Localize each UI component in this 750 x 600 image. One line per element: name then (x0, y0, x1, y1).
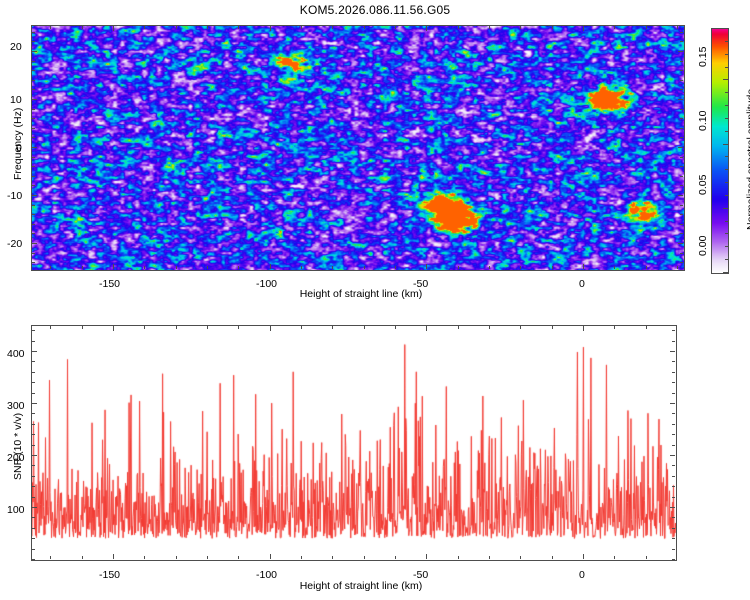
tick-mark (32, 351, 37, 352)
spectrogram-xtick-neg150: -150 (99, 278, 120, 290)
tick-mark (458, 266, 459, 269)
tick-mark (680, 128, 683, 129)
tick-mark (364, 266, 365, 269)
tick-mark (678, 243, 683, 244)
tick-mark (583, 554, 584, 559)
tick-mark (520, 266, 521, 269)
tick-mark (113, 264, 114, 269)
tick-mark (50, 26, 51, 29)
tick-mark (552, 26, 553, 29)
tick-mark (458, 26, 459, 29)
tick-mark (144, 266, 145, 269)
tick-mark (238, 266, 239, 269)
tick-mark (32, 70, 35, 71)
tick-mark (680, 32, 683, 33)
tick-mark (32, 51, 37, 52)
tick-mark (113, 26, 114, 31)
tick-mark (207, 556, 208, 559)
tick-mark (672, 476, 675, 477)
tick-mark (489, 556, 490, 559)
tick-mark (332, 266, 333, 269)
tick-mark (32, 549, 35, 550)
tick-mark (520, 556, 521, 559)
tick-mark (238, 556, 239, 559)
colorbar-tick-010: 0.10 (697, 111, 709, 131)
tick-mark (144, 326, 145, 329)
tick-mark (680, 41, 683, 42)
tick-mark (680, 262, 683, 263)
tick-mark (489, 266, 490, 269)
tick-mark (723, 208, 728, 209)
tick-mark (32, 137, 35, 138)
tick-mark (207, 266, 208, 269)
tick-mark (82, 556, 83, 559)
snr-canvas (32, 326, 676, 560)
tick-mark (332, 556, 333, 559)
tick-mark (32, 486, 35, 487)
tick-mark (489, 26, 490, 29)
snr-ytick-200: 200 (7, 452, 25, 464)
tick-mark (270, 264, 271, 269)
tick-mark (32, 507, 37, 508)
tick-mark (176, 266, 177, 269)
tick-mark (725, 246, 728, 247)
tick-mark (364, 326, 365, 329)
colorbar-tick-015: 0.15 (697, 47, 709, 67)
tick-mark (680, 89, 683, 90)
tick-mark (32, 205, 35, 206)
tick-mark (32, 128, 35, 129)
tick-mark (552, 556, 553, 559)
tick-mark (680, 253, 683, 254)
tick-mark (725, 118, 728, 119)
tick-mark (395, 556, 396, 559)
tick-mark (672, 486, 675, 487)
tick-mark (32, 424, 35, 425)
tick-mark (680, 109, 683, 110)
tick-mark (672, 424, 675, 425)
tick-mark (270, 554, 271, 559)
tick-mark (32, 253, 35, 254)
tick-mark (426, 26, 427, 31)
tick-mark (725, 92, 728, 93)
tick-mark (672, 445, 675, 446)
tick-mark (725, 221, 728, 222)
tick-mark (32, 341, 35, 342)
tick-mark (364, 556, 365, 559)
tick-mark (672, 538, 675, 539)
spectrogram-ytick-20: 20 (10, 41, 22, 53)
tick-mark (725, 233, 728, 234)
tick-mark (670, 403, 675, 404)
figure-root: KOM5.2026.086.11.56.G05 Frequency (Hz) 2… (0, 0, 750, 600)
tick-mark (32, 195, 37, 196)
tick-mark (301, 266, 302, 269)
tick-mark (614, 26, 615, 29)
tick-mark (552, 326, 553, 329)
tick-mark (672, 341, 675, 342)
tick-mark (677, 266, 678, 269)
tick-mark (725, 131, 728, 132)
spectrogram-ytick-neg20: -20 (7, 238, 22, 250)
snr-ytick-400: 400 (7, 348, 25, 360)
tick-mark (364, 26, 365, 29)
tick-mark (32, 32, 35, 33)
tick-mark (426, 326, 427, 331)
tick-mark (677, 26, 678, 29)
tick-mark (725, 54, 728, 55)
tick-mark (32, 224, 35, 225)
tick-mark (32, 434, 35, 435)
tick-mark (32, 89, 35, 90)
tick-mark (614, 326, 615, 329)
tick-mark (32, 147, 37, 148)
tick-mark (32, 41, 35, 42)
tick-mark (50, 326, 51, 329)
tick-mark (32, 413, 35, 414)
tick-mark (646, 26, 647, 29)
tick-mark (82, 266, 83, 269)
tick-mark (672, 549, 675, 550)
spectrogram-ytick-neg10: -10 (7, 190, 22, 202)
tick-mark (614, 556, 615, 559)
tick-mark (426, 554, 427, 559)
snr-ytick-100: 100 (7, 504, 25, 516)
tick-mark (113, 554, 114, 559)
spectrogram-ytick-0: 0 (16, 142, 22, 154)
tick-mark (32, 61, 35, 62)
tick-mark (680, 137, 683, 138)
snr-x-axis-label: Height of straight line (km) (231, 580, 491, 592)
tick-mark (32, 118, 35, 119)
tick-mark (672, 330, 675, 331)
tick-mark (32, 233, 35, 234)
tick-mark (32, 465, 35, 466)
tick-mark (678, 99, 683, 100)
tick-mark (723, 79, 728, 80)
tick-mark (301, 26, 302, 29)
snr-xtick-0: 0 (579, 569, 585, 581)
spectrogram-canvas (32, 26, 684, 270)
tick-mark (725, 41, 728, 42)
tick-mark (670, 507, 675, 508)
tick-mark (32, 393, 35, 394)
tick-mark (725, 67, 728, 68)
tick-mark (672, 372, 675, 373)
tick-mark (176, 326, 177, 329)
tick-mark (678, 51, 683, 52)
tick-mark (725, 28, 728, 29)
colorbar-tick-000: 0.00 (697, 236, 709, 256)
snr-ytick-300: 300 (7, 400, 25, 412)
tick-mark (395, 326, 396, 329)
tick-mark (646, 326, 647, 329)
tick-mark (680, 233, 683, 234)
tick-mark (680, 157, 683, 158)
tick-mark (32, 497, 35, 498)
tick-mark (426, 264, 427, 269)
tick-mark (670, 455, 675, 456)
tick-mark (680, 80, 683, 81)
tick-mark (552, 266, 553, 269)
spectrogram-plot-area (31, 25, 685, 271)
tick-mark (144, 26, 145, 29)
tick-mark (32, 157, 35, 158)
colorbar-tick-005: 0.05 (697, 175, 709, 195)
tick-mark (238, 326, 239, 329)
tick-mark (672, 361, 675, 362)
tick-mark (113, 326, 114, 331)
spectrogram-ytick-10: 10 (10, 94, 22, 106)
tick-mark (82, 326, 83, 329)
tick-mark (489, 326, 490, 329)
tick-mark (678, 147, 683, 148)
tick-mark (50, 266, 51, 269)
tick-mark (614, 266, 615, 269)
colorbar-label: Normalized spectral amplitude (745, 89, 750, 230)
tick-mark (32, 403, 37, 404)
tick-mark (672, 517, 675, 518)
tick-mark (680, 205, 683, 206)
tick-mark (458, 556, 459, 559)
tick-mark (32, 185, 35, 186)
tick-mark (672, 434, 675, 435)
tick-mark (725, 182, 728, 183)
tick-mark (270, 26, 271, 31)
colorbar (711, 28, 729, 274)
tick-mark (32, 559, 35, 560)
tick-mark (32, 109, 35, 110)
tick-mark (32, 455, 37, 456)
colorbar-gradient (712, 29, 728, 273)
tick-mark (32, 99, 37, 100)
tick-mark (301, 556, 302, 559)
figure-title: KOM5.2026.086.11.56.G05 (0, 3, 750, 17)
spectrogram-x-axis-label: Height of straight line (km) (231, 288, 491, 300)
tick-mark (458, 326, 459, 329)
tick-mark (672, 413, 675, 414)
tick-mark (583, 26, 584, 31)
tick-mark (32, 517, 35, 518)
tick-mark (680, 224, 683, 225)
tick-mark (207, 26, 208, 29)
tick-mark (32, 538, 35, 539)
tick-mark (672, 382, 675, 383)
tick-mark (32, 382, 35, 383)
tick-mark (672, 465, 675, 466)
tick-mark (678, 195, 683, 196)
tick-mark (583, 326, 584, 331)
tick-mark (176, 26, 177, 29)
snr-xtick-neg150: -150 (99, 569, 120, 581)
tick-mark (672, 559, 675, 560)
tick-mark (32, 372, 35, 373)
tick-mark (680, 166, 683, 167)
tick-mark (32, 166, 35, 167)
tick-mark (680, 214, 683, 215)
tick-mark (32, 361, 35, 362)
tick-mark (32, 176, 35, 177)
tick-mark (32, 262, 35, 263)
tick-mark (725, 259, 728, 260)
tick-mark (672, 497, 675, 498)
tick-mark (144, 556, 145, 559)
tick-mark (238, 26, 239, 29)
tick-mark (646, 556, 647, 559)
tick-mark (725, 156, 728, 157)
tick-mark (680, 61, 683, 62)
tick-mark (680, 118, 683, 119)
tick-mark (332, 326, 333, 329)
spectrogram-xtick-0: 0 (579, 278, 585, 290)
tick-mark (520, 26, 521, 29)
tick-mark (520, 326, 521, 329)
tick-mark (680, 176, 683, 177)
tick-mark (32, 445, 35, 446)
tick-mark (32, 330, 35, 331)
tick-mark (395, 266, 396, 269)
tick-mark (723, 272, 728, 273)
tick-mark (32, 528, 35, 529)
tick-mark (646, 266, 647, 269)
tick-mark (301, 326, 302, 329)
tick-mark (583, 264, 584, 269)
tick-mark (176, 556, 177, 559)
tick-mark (332, 26, 333, 29)
tick-mark (725, 195, 728, 196)
tick-mark (32, 80, 35, 81)
tick-mark (82, 26, 83, 29)
tick-mark (50, 556, 51, 559)
tick-mark (725, 105, 728, 106)
snr-plot-area (31, 325, 677, 561)
tick-mark (680, 70, 683, 71)
tick-mark (32, 243, 37, 244)
tick-mark (395, 26, 396, 29)
tick-mark (725, 169, 728, 170)
tick-mark (32, 214, 35, 215)
tick-mark (680, 185, 683, 186)
tick-mark (670, 351, 675, 352)
tick-mark (270, 326, 271, 331)
tick-mark (207, 326, 208, 329)
tick-mark (723, 144, 728, 145)
tick-mark (32, 476, 35, 477)
snr-y-axis-label: SNR (10 * v/v) (12, 413, 24, 480)
tick-mark (672, 393, 675, 394)
tick-mark (672, 528, 675, 529)
